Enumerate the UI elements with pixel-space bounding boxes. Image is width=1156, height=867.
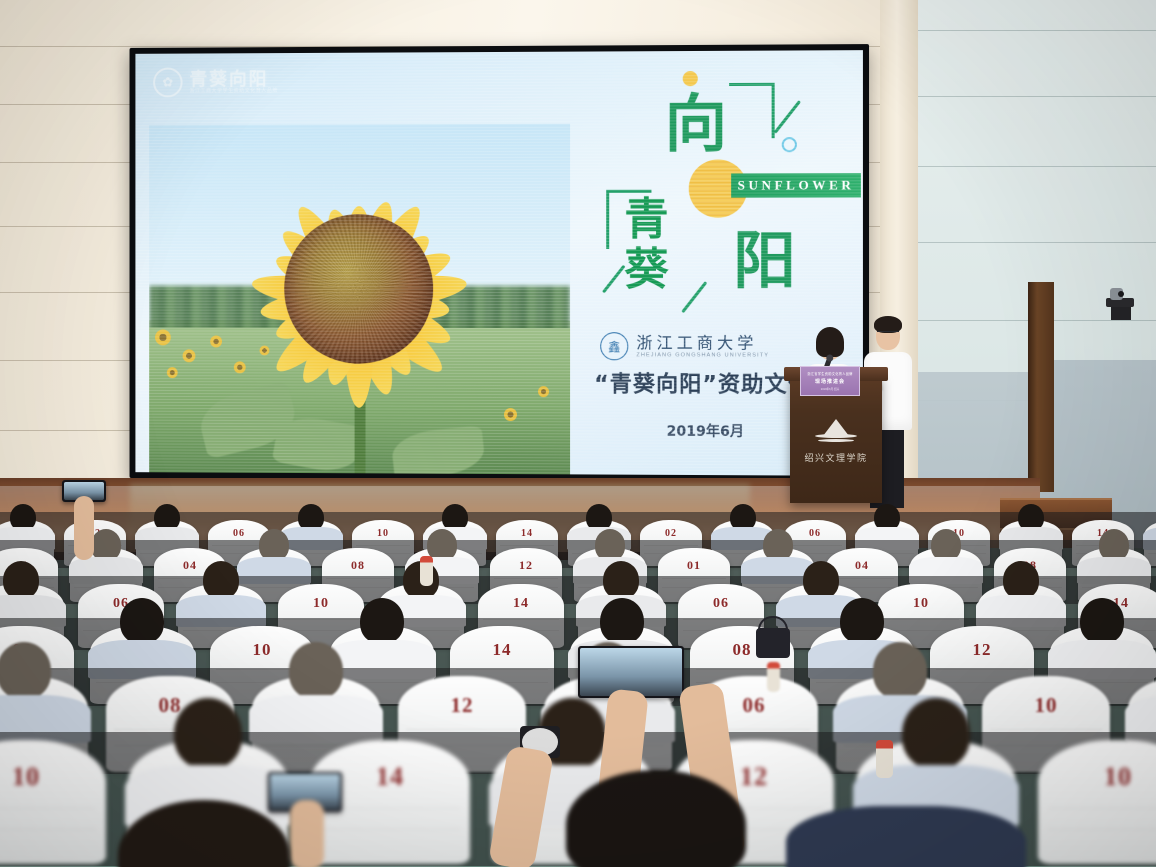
handbag bbox=[756, 628, 790, 658]
auditorium-scene: ✿ 青葵向阳 浙江工商大学学生资助文化育人品牌 bbox=[0, 0, 1156, 867]
foreground-props bbox=[0, 0, 1156, 867]
water-bottle bbox=[876, 740, 893, 778]
foreground-head bbox=[118, 800, 290, 867]
raised-arm bbox=[488, 745, 554, 867]
raised-arm bbox=[290, 800, 324, 867]
water-bottle bbox=[420, 556, 433, 586]
raised-arm bbox=[74, 496, 94, 560]
water-bottle bbox=[767, 662, 780, 692]
foreground-shoulders bbox=[786, 806, 1026, 867]
